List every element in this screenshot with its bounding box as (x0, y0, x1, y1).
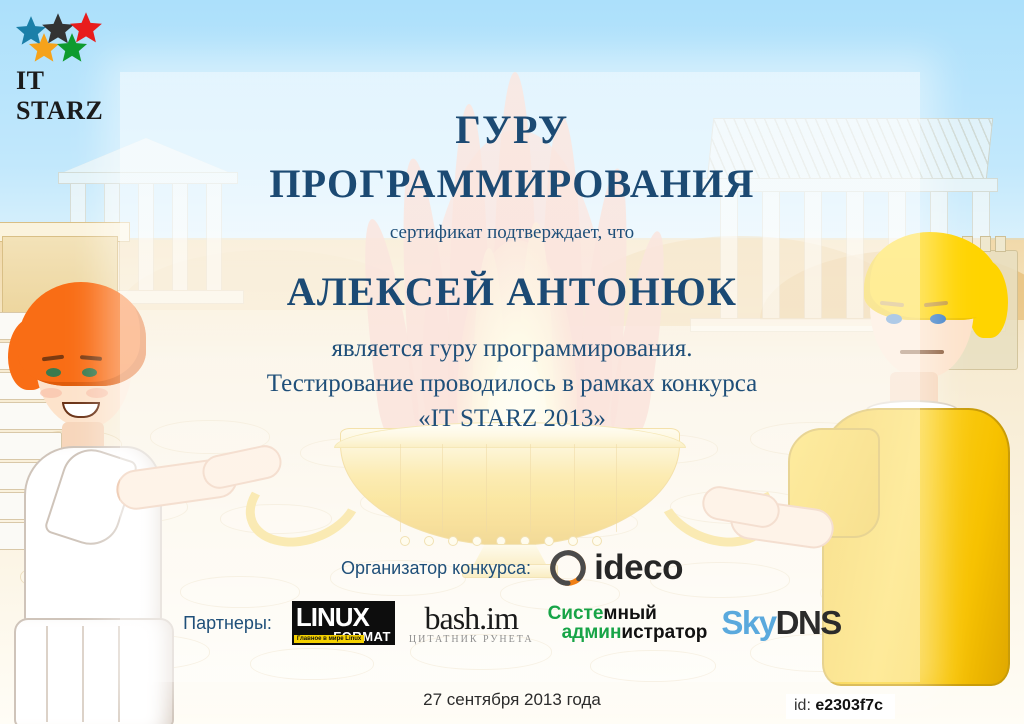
certificate-id-value: e2303f7c (815, 697, 883, 714)
certificate-id-box: id: e2303f7c (786, 694, 895, 719)
star-icon-green (55, 31, 89, 65)
partner-logo-skydns: SkyDNS (721, 604, 840, 642)
skydns-part1: Sky (721, 604, 775, 641)
organizer-row: Организатор конкурса: ideco (0, 548, 1024, 588)
certificate-body-line1: является гуру программирования. (0, 335, 1024, 363)
certificate-body-line3: «IT STARZ 2013» (0, 405, 1024, 433)
sysadmin-line1-black: мный (603, 603, 656, 624)
logo-stars (14, 14, 114, 62)
partners-label: Партнеры: (183, 613, 272, 634)
organizer-label: Организатор конкурса: (341, 558, 531, 579)
partners-row: Партнеры: LINUX FORMAT Главное в мире Li… (0, 601, 1024, 645)
recipient-name: АЛЕКСЕЙ АНТОНЮК (0, 268, 1024, 315)
bash-im-main: bash.im (409, 602, 534, 634)
it-starz-logo: IT STARZ (14, 14, 122, 98)
certificate-body-line2: Тестирование проводилось в рамках конкур… (0, 370, 1024, 398)
certificate-confirm-text: сертификат подтверждает, что (0, 222, 1024, 244)
sysadmin-line2-green: админ (562, 622, 622, 643)
certificate-content: ГУРУ ПРОГРАММИРОВАНИЯ сертификат подтвер… (0, 0, 1024, 724)
ideco-wordmark: ideco (594, 548, 683, 588)
certificate-title-line2: ПРОГРАММИРОВАНИЯ (0, 160, 1024, 207)
ideco-mark-icon (549, 549, 587, 587)
sysadmin-line2: администратор (562, 623, 708, 642)
sysadmin-line1: Системный (548, 604, 708, 623)
sysadmin-line2-black: истратор (621, 622, 707, 643)
partner-logo-sistemny-administrator: Системный администратор (548, 604, 708, 642)
certificate-title-line1: ГУРУ (0, 106, 1024, 153)
bash-im-subtitle: ЦИТАТНИК РУНЕТА (409, 635, 534, 645)
certificate-id-label: id: (794, 697, 811, 714)
partner-logo-linux-format: LINUX FORMAT Главное в мире Linux (292, 601, 395, 645)
partner-logo-bash-im: bash.im ЦИТАТНИК РУНЕТА (409, 602, 534, 645)
certificate-canvas: IT STARZ ГУРУ ПРОГРАММИРОВАНИЯ сертифика… (0, 0, 1024, 724)
skydns-part2: DNS (776, 604, 841, 641)
sysadmin-line1-green: Систе (548, 603, 604, 624)
ideco-logo: ideco (549, 548, 683, 588)
logo-wordmark: IT STARZ (16, 66, 122, 126)
linux-format-tagline: Главное в мире Linux (294, 635, 364, 643)
